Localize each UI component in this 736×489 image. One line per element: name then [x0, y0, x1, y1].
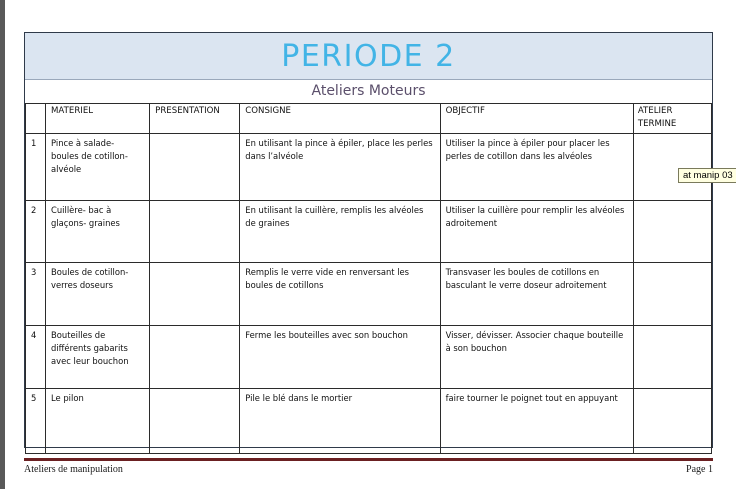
cell-consigne: En utilisant la pince à épiler, place le…: [240, 133, 440, 200]
cell-presentation-photo: [150, 388, 240, 453]
column-header-objectif: OBJECTIF: [440, 104, 633, 134]
column-header-materiel: MATERIEL: [46, 104, 150, 134]
cell-materiel: Boules de cotillon- verres doseurs: [46, 262, 150, 325]
row-number: 4: [26, 325, 46, 388]
cell-objectif: Visser, dévisser. Associer chaque boutei…: [440, 325, 633, 388]
title-banner: PERIODE 2: [25, 33, 712, 80]
page-subtitle: Ateliers Moteurs: [312, 83, 426, 99]
cell-materiel: Cuillère- bac à glaçons- graines: [46, 200, 150, 262]
cell-objectif: Transvaser les boules de cotillons en ba…: [440, 262, 633, 325]
cell-consigne: Remplis le verre vide en renversant les …: [240, 262, 440, 325]
page-title: PERIODE 2: [281, 39, 456, 74]
cell-presentation-photo: [150, 200, 240, 262]
cell-consigne: Pile le blé dans le mortier: [240, 388, 440, 453]
footer-left-text: Ateliers de manipulation: [24, 464, 123, 475]
column-header-presentation: PRESENTATION: [150, 104, 240, 134]
workshops-table: MATERIEL PRESENTATION CONSIGNE OBJECTIF …: [25, 103, 712, 454]
cell-presentation-photo: [150, 325, 240, 388]
cell-atelier-termine-photo: [633, 325, 711, 388]
row-number: 3: [26, 262, 46, 325]
row-number: 2: [26, 200, 46, 262]
cell-atelier-termine-photo: [633, 262, 711, 325]
cell-consigne: Ferme les bouteilles avec son bouchon: [240, 325, 440, 388]
image-tooltip: at manip 03: [678, 168, 736, 183]
cell-atelier-termine-photo: [633, 200, 711, 262]
column-header-number: [26, 104, 46, 134]
cell-presentation-photo: [150, 133, 240, 200]
cell-presentation-photo: [150, 262, 240, 325]
table-row: 1 Pince à salade- boules de cotillon- al…: [26, 133, 712, 200]
page-footer: Ateliers de manipulation Page 1: [24, 458, 713, 475]
cell-materiel: Le pilon: [46, 388, 150, 453]
cell-atelier-termine-empty: [633, 388, 711, 453]
cell-materiel: Pince à salade- boules de cotillon- alvé…: [46, 133, 150, 200]
subtitle-banner: Ateliers Moteurs: [25, 80, 712, 103]
cell-materiel: Bouteilles de différents gabarits avec l…: [46, 325, 150, 388]
cell-consigne: En utilisant la cuillère, remplis les al…: [240, 200, 440, 262]
table-row: 4 Bouteilles de différents gabarits avec…: [26, 325, 712, 388]
column-header-atelier-termine: ATELIER TERMINE: [633, 104, 711, 134]
cell-objectif: faire tourner le poignet tout en appuyan…: [440, 388, 633, 453]
footer-page-number: Page 1: [686, 464, 713, 475]
cell-atelier-termine-photo: [633, 133, 711, 200]
cell-objectif: Utiliser la cuillère pour remplir les al…: [440, 200, 633, 262]
table-row: 2 Cuillère- bac à glaçons- graines En ut…: [26, 200, 712, 262]
column-header-consigne: CONSIGNE: [240, 104, 440, 134]
table-row: 3 Boules de cotillon- verres doseurs Rem…: [26, 262, 712, 325]
table-row: 5 Le pilon Pile le blé dans le mortier f…: [26, 388, 712, 453]
cell-objectif: Utiliser la pince à épiler pour placer l…: [440, 133, 633, 200]
document-page: PERIODE 2 Ateliers Moteurs MATERIEL PRES…: [24, 32, 713, 448]
row-number: 1: [26, 133, 46, 200]
window-left-edge-strip: [0, 0, 5, 489]
row-number: 5: [26, 388, 46, 453]
table-header-row: MATERIEL PRESENTATION CONSIGNE OBJECTIF …: [26, 104, 712, 134]
